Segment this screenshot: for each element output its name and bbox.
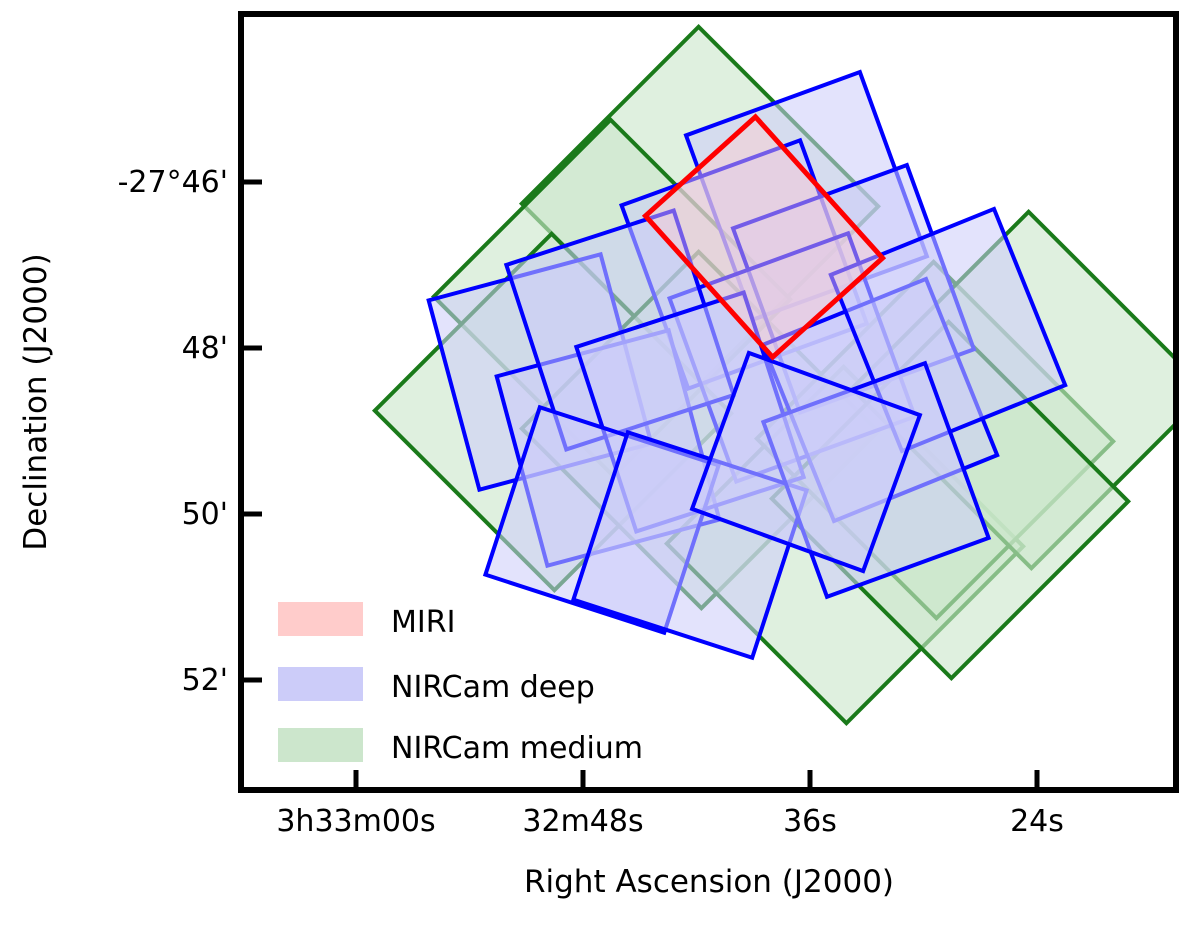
y-axis-label: Declination (J2000) xyxy=(18,253,54,550)
legend-label-miri: MIRI xyxy=(391,605,455,640)
legend-item-nircam-medium[interactable]: NIRCam medium xyxy=(278,728,643,766)
x-ticklabel-1: 32m48s xyxy=(522,804,643,839)
y-ticklabel-3: 52' xyxy=(182,663,228,698)
legend-item-nircam-deep[interactable]: NIRCam deep xyxy=(278,667,595,705)
legend-swatch-nircam-medium xyxy=(278,728,363,762)
legend-label-nircam-medium: NIRCam medium xyxy=(391,731,643,766)
legend-label-nircam-deep: NIRCam deep xyxy=(391,670,595,705)
y-ticklabel-0: -27°46' xyxy=(118,165,228,200)
legend-swatch-miri xyxy=(278,602,363,636)
x-ticklabel-3: 24s xyxy=(1010,804,1064,839)
x-ticklabel-0: 3h33m00s xyxy=(276,804,435,839)
figure-root: -27°46' 48' 50' 52' 3h33m00s 32m48s 36s … xyxy=(0,0,1200,934)
x-axis-label: Right Ascension (J2000) xyxy=(524,864,894,900)
y-ticklabel-1: 48' xyxy=(182,331,228,366)
legend-swatch-nircam-deep xyxy=(278,667,363,701)
y-ticklabel-2: 50' xyxy=(182,497,228,532)
x-ticklabel-2: 36s xyxy=(783,804,837,839)
survey-footprint-chart: -27°46' 48' 50' 52' 3h33m00s 32m48s 36s … xyxy=(0,0,1200,934)
